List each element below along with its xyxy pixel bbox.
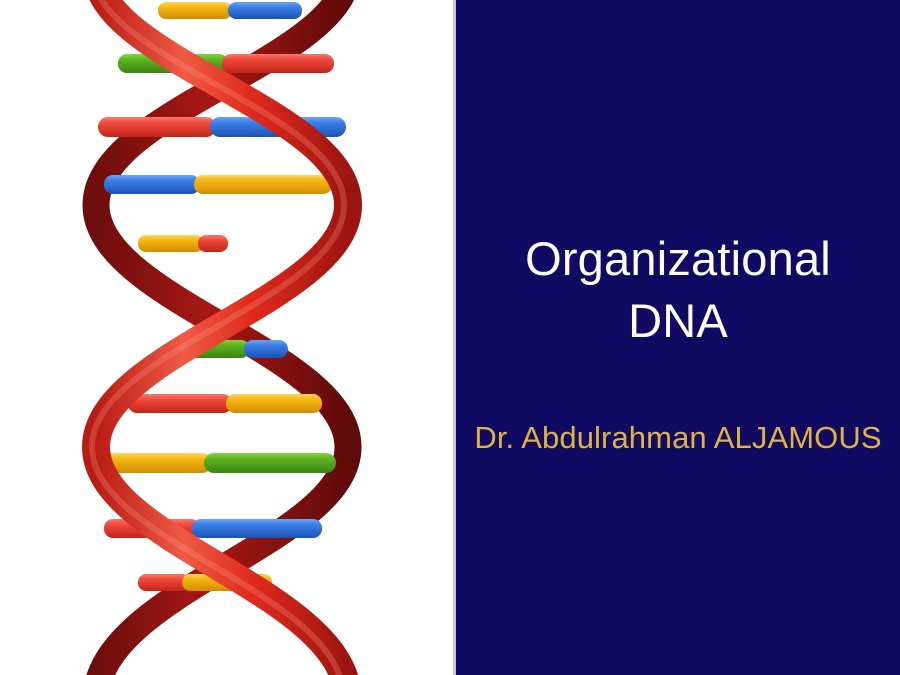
rung-segment — [244, 340, 288, 358]
rung-segment — [98, 117, 216, 137]
rung-segment — [138, 235, 204, 252]
title-panel: Organizational DNA Dr. Abdulrahman ALJAM… — [456, 0, 900, 675]
rung-segment — [128, 394, 232, 413]
rung-segment — [222, 54, 334, 73]
rung-segment — [198, 235, 228, 252]
dna-illustration-panel — [0, 0, 454, 675]
rung-segment — [226, 394, 322, 413]
page-title: Organizational DNA — [456, 228, 900, 352]
rung-segment — [204, 453, 336, 473]
subtitle-block: Dr. Abdulrahman ALJAMOUS — [456, 420, 900, 456]
author-subtitle: Dr. Abdulrahman ALJAMOUS — [456, 420, 900, 456]
presentation-slide: Organizational DNA Dr. Abdulrahman ALJAM… — [0, 0, 900, 675]
title-block: Organizational DNA — [456, 228, 900, 352]
rung-segment — [104, 175, 200, 194]
rung-segment — [194, 175, 332, 194]
rung-segment — [158, 2, 232, 19]
rung-segment — [192, 519, 322, 538]
dna-double-helix-icon — [0, 0, 454, 675]
rung-segment — [228, 2, 302, 19]
